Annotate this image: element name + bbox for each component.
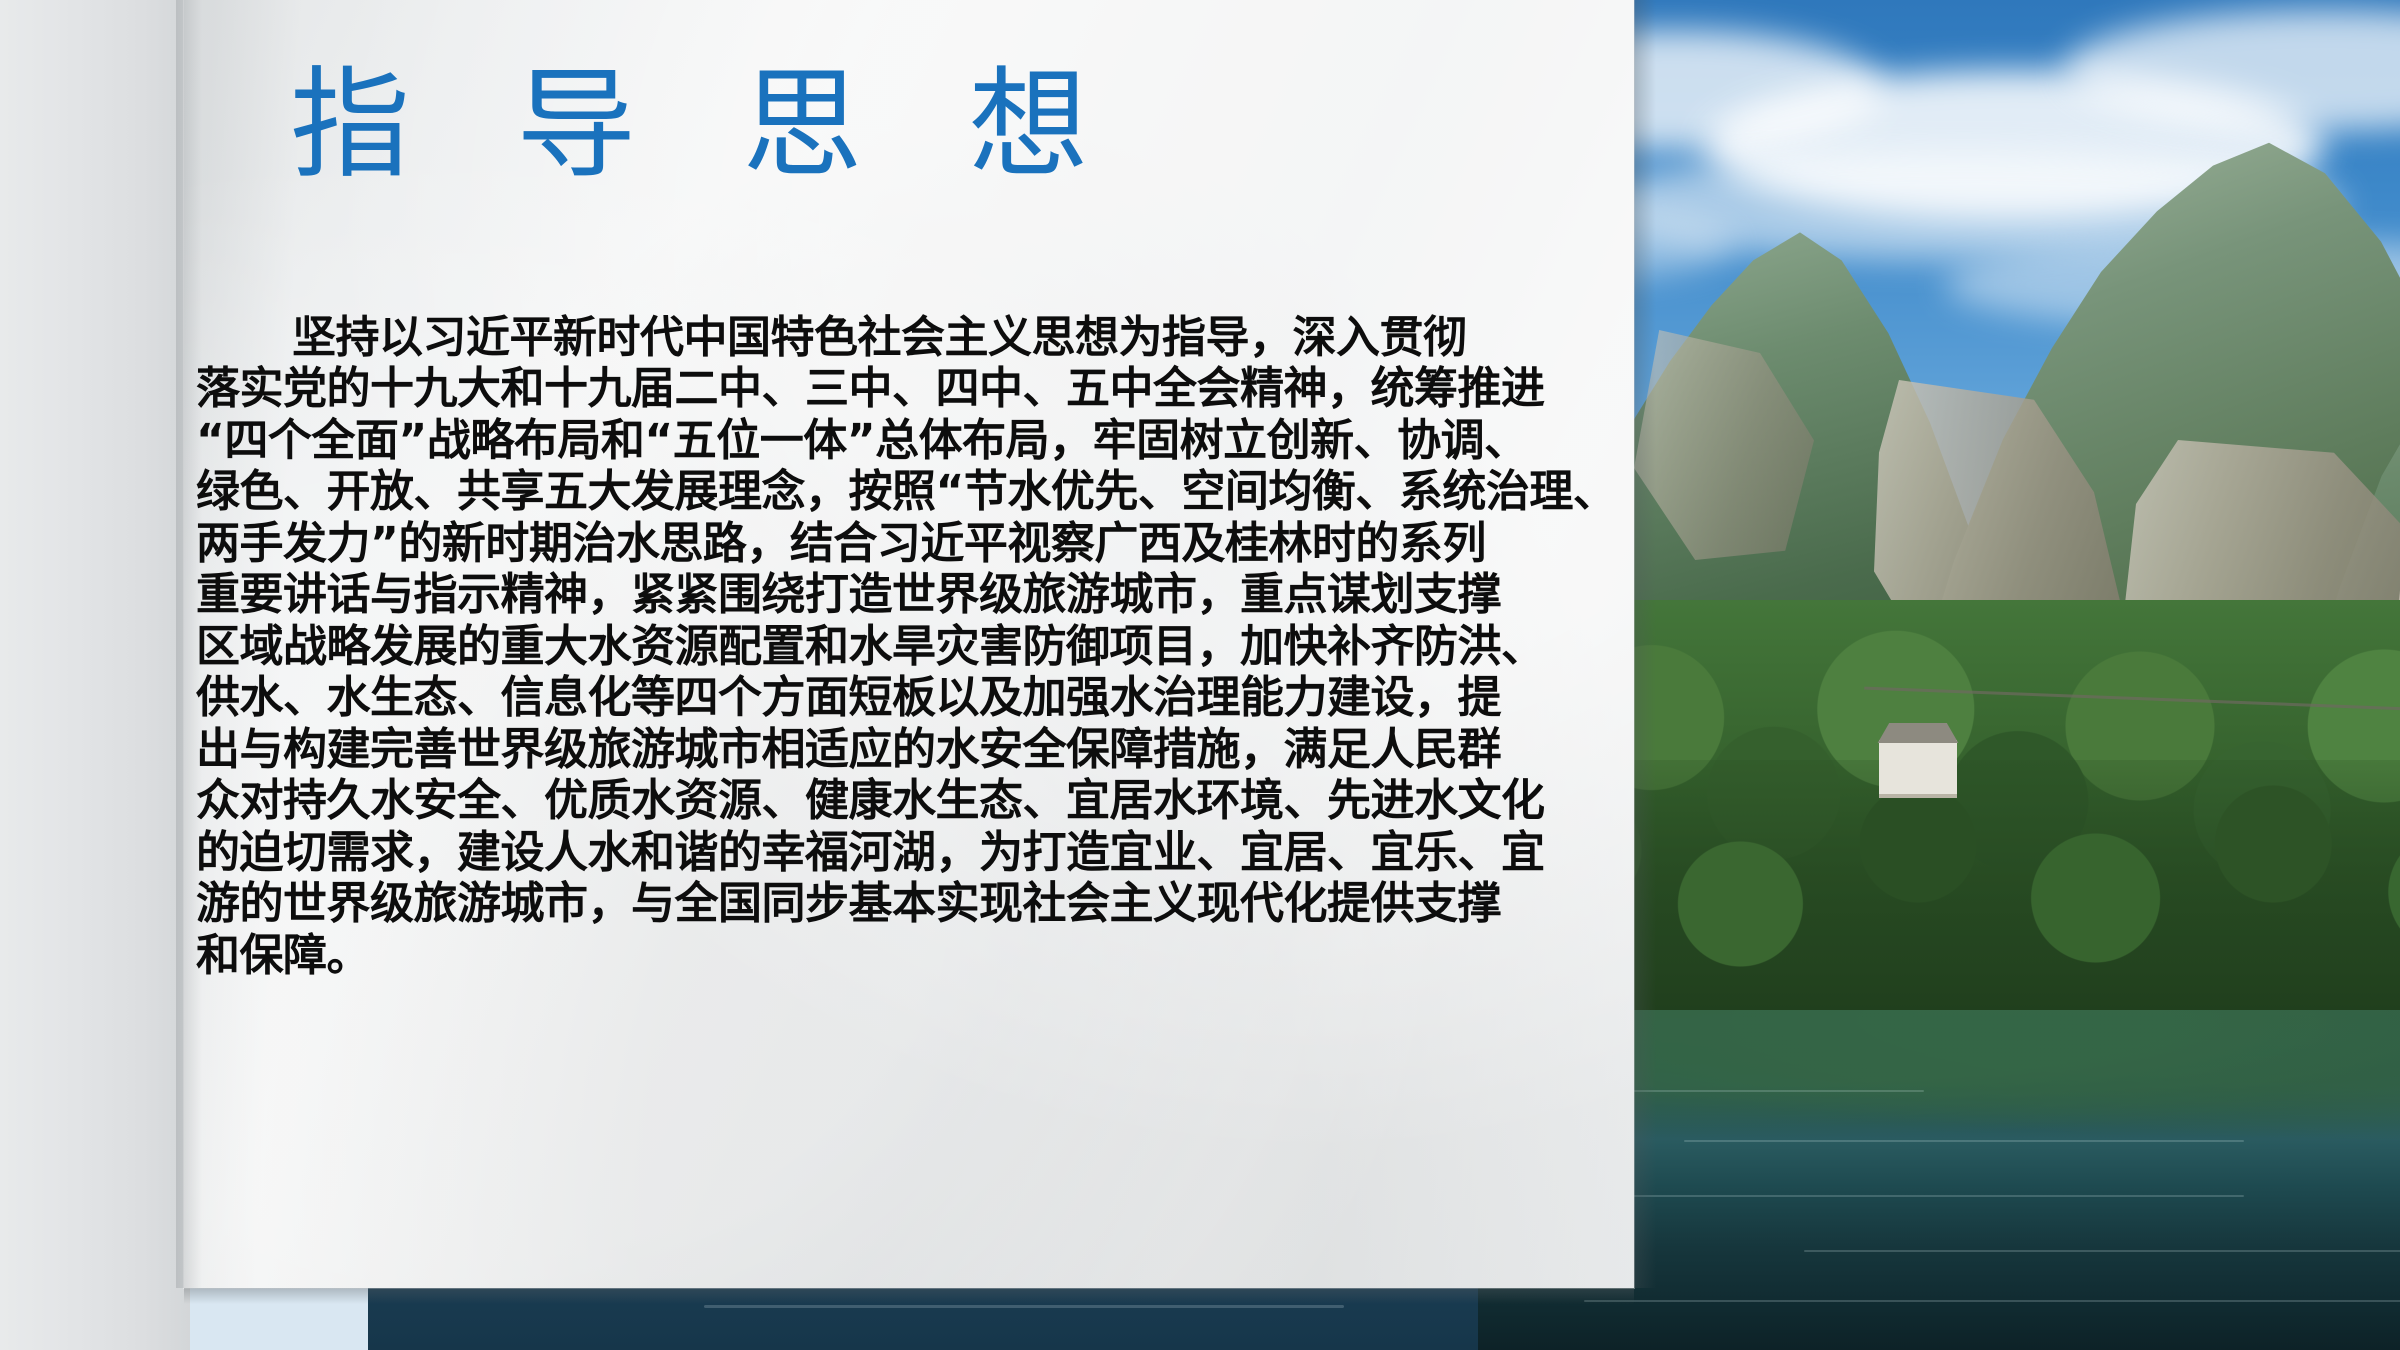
slide-left-margin: [0, 0, 190, 1350]
slide-title: 指 导 思 想: [290, 55, 1122, 197]
body-line: 坚持以习近平新时代中国特色社会主义思想为指导，深入贯彻: [196, 312, 1616, 363]
panel-right-shadow: [1634, 0, 1656, 1288]
body-line: 众对持久水安全、优质水资源、健康水生态、宜居水环境、先进水文化: [196, 775, 1616, 826]
body-line: 两手发力”的新时期治水思路，结合习近平视察广西及桂林时的系列: [196, 518, 1616, 569]
water-ripple: [1584, 1300, 2400, 1302]
body-line: 游的世界级旅游城市，与全国同步基本实现社会主义现代化提供支撑: [196, 878, 1616, 929]
body-line: 绿色、开放、共享五大发展理念，按照“节水优先、空间均衡、系统治理、: [196, 466, 1616, 517]
body-line: 供水、水生态、信息化等四个方面短板以及加强水治理能力建设，提: [196, 672, 1616, 723]
body-line: 出与构建完善世界级旅游城市相适应的水安全保障措施，满足人民群: [196, 724, 1616, 775]
panel-bottom-shadow: [184, 1288, 1634, 1304]
body-line: 区域战略发展的重大水资源配置和水旱灾害防御项目，加快补齐防洪、: [196, 621, 1616, 672]
body-line: “四个全面”战略布局和“五位一体”总体布局，牢固树立创新、协调、: [196, 415, 1616, 466]
body-line: 的迫切需求，建设人水和谐的幸福河湖，为打造宜业、宜居、宜乐、宜: [196, 827, 1616, 878]
presentation-slide: 指 导 思 想 坚持以习近平新时代中国特色社会主义思想为指导，深入贯彻落实党的十…: [0, 0, 2400, 1350]
water-ripple: [704, 1305, 1344, 1308]
water-ripple: [1804, 1250, 2400, 1252]
water-ripple: [1684, 1140, 2244, 1142]
slide-body-text: 坚持以习近平新时代中国特色社会主义思想为指导，深入贯彻落实党的十九大和十九届二中…: [196, 312, 1616, 981]
body-line: 和保障。: [196, 930, 1616, 981]
body-line: 重要讲话与指示精神，紧紧围绕打造世界级旅游城市，重点谋划支撑: [196, 569, 1616, 620]
riverside-building: [1879, 740, 1957, 798]
body-line: 落实党的十九大和十九届二中、三中、四中、五中全会精神，统筹推进: [196, 363, 1616, 414]
